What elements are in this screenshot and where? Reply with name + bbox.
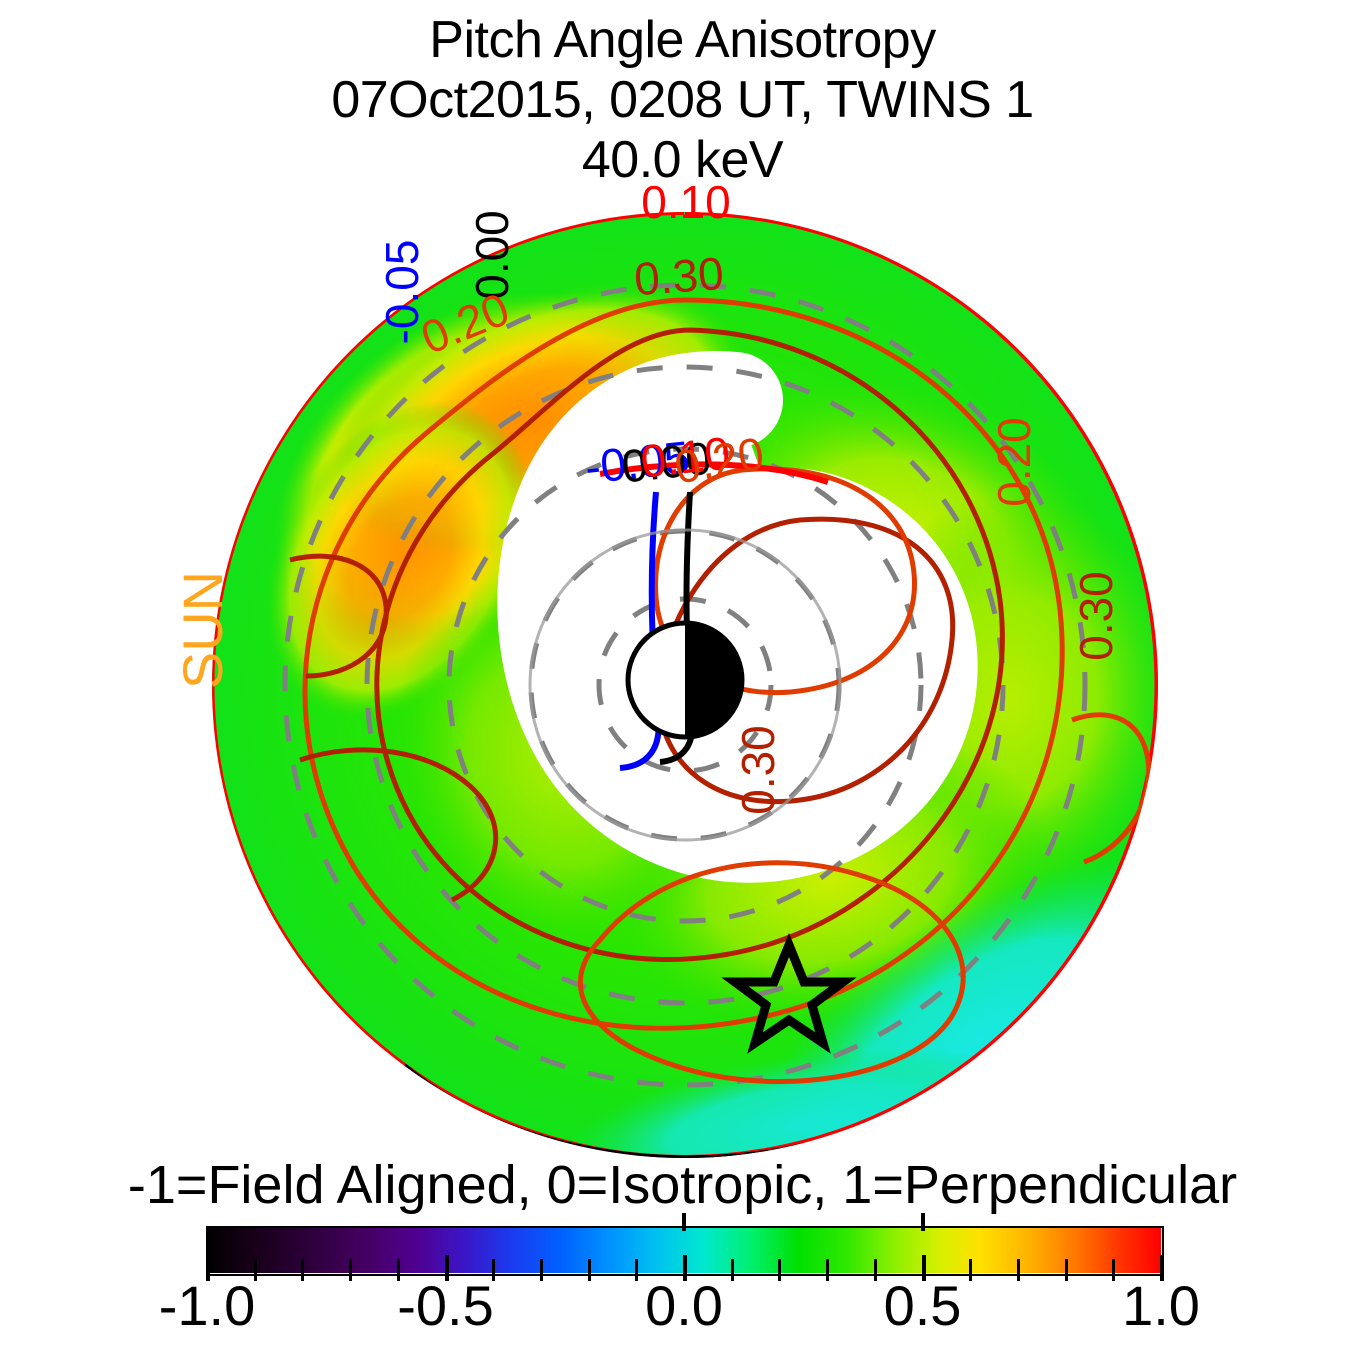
colorbar [207,1227,1161,1279]
contour-label-0-30: 0.30 [1070,571,1122,661]
colorbar-tick-label: -0.5 [336,1275,556,1337]
colorbar-top-tick [921,1213,925,1231]
colorbar-tick-label: 0.0 [574,1275,794,1337]
colorbar-tick-label: -1.0 [97,1275,317,1337]
pitch-angle-anisotropy-figure: Pitch Angle Anisotropy 07Oct2015, 0208 U… [0,0,1365,1365]
colorbar-caption: -1=Field Aligned, 0=Isotropic, 1=Perpend… [0,1155,1365,1215]
colorbar-top-tick [682,1213,686,1231]
colorbar-tick-label: 1.0 [1051,1275,1271,1337]
contour-label-0-20: 0.20 [988,417,1040,507]
contour-label-0-10: 0.10 [641,176,731,228]
earth-symbol [628,623,742,737]
contour-label-0-30: 0.30 [632,247,725,305]
colorbar-tick-labels: -1.0-0.50.00.51.0 [0,1275,1365,1355]
contour-label-0-30: 0.30 [732,725,784,815]
colorbar-tick-label: 0.5 [813,1275,1033,1337]
sun-direction-label: SUN [173,545,233,715]
